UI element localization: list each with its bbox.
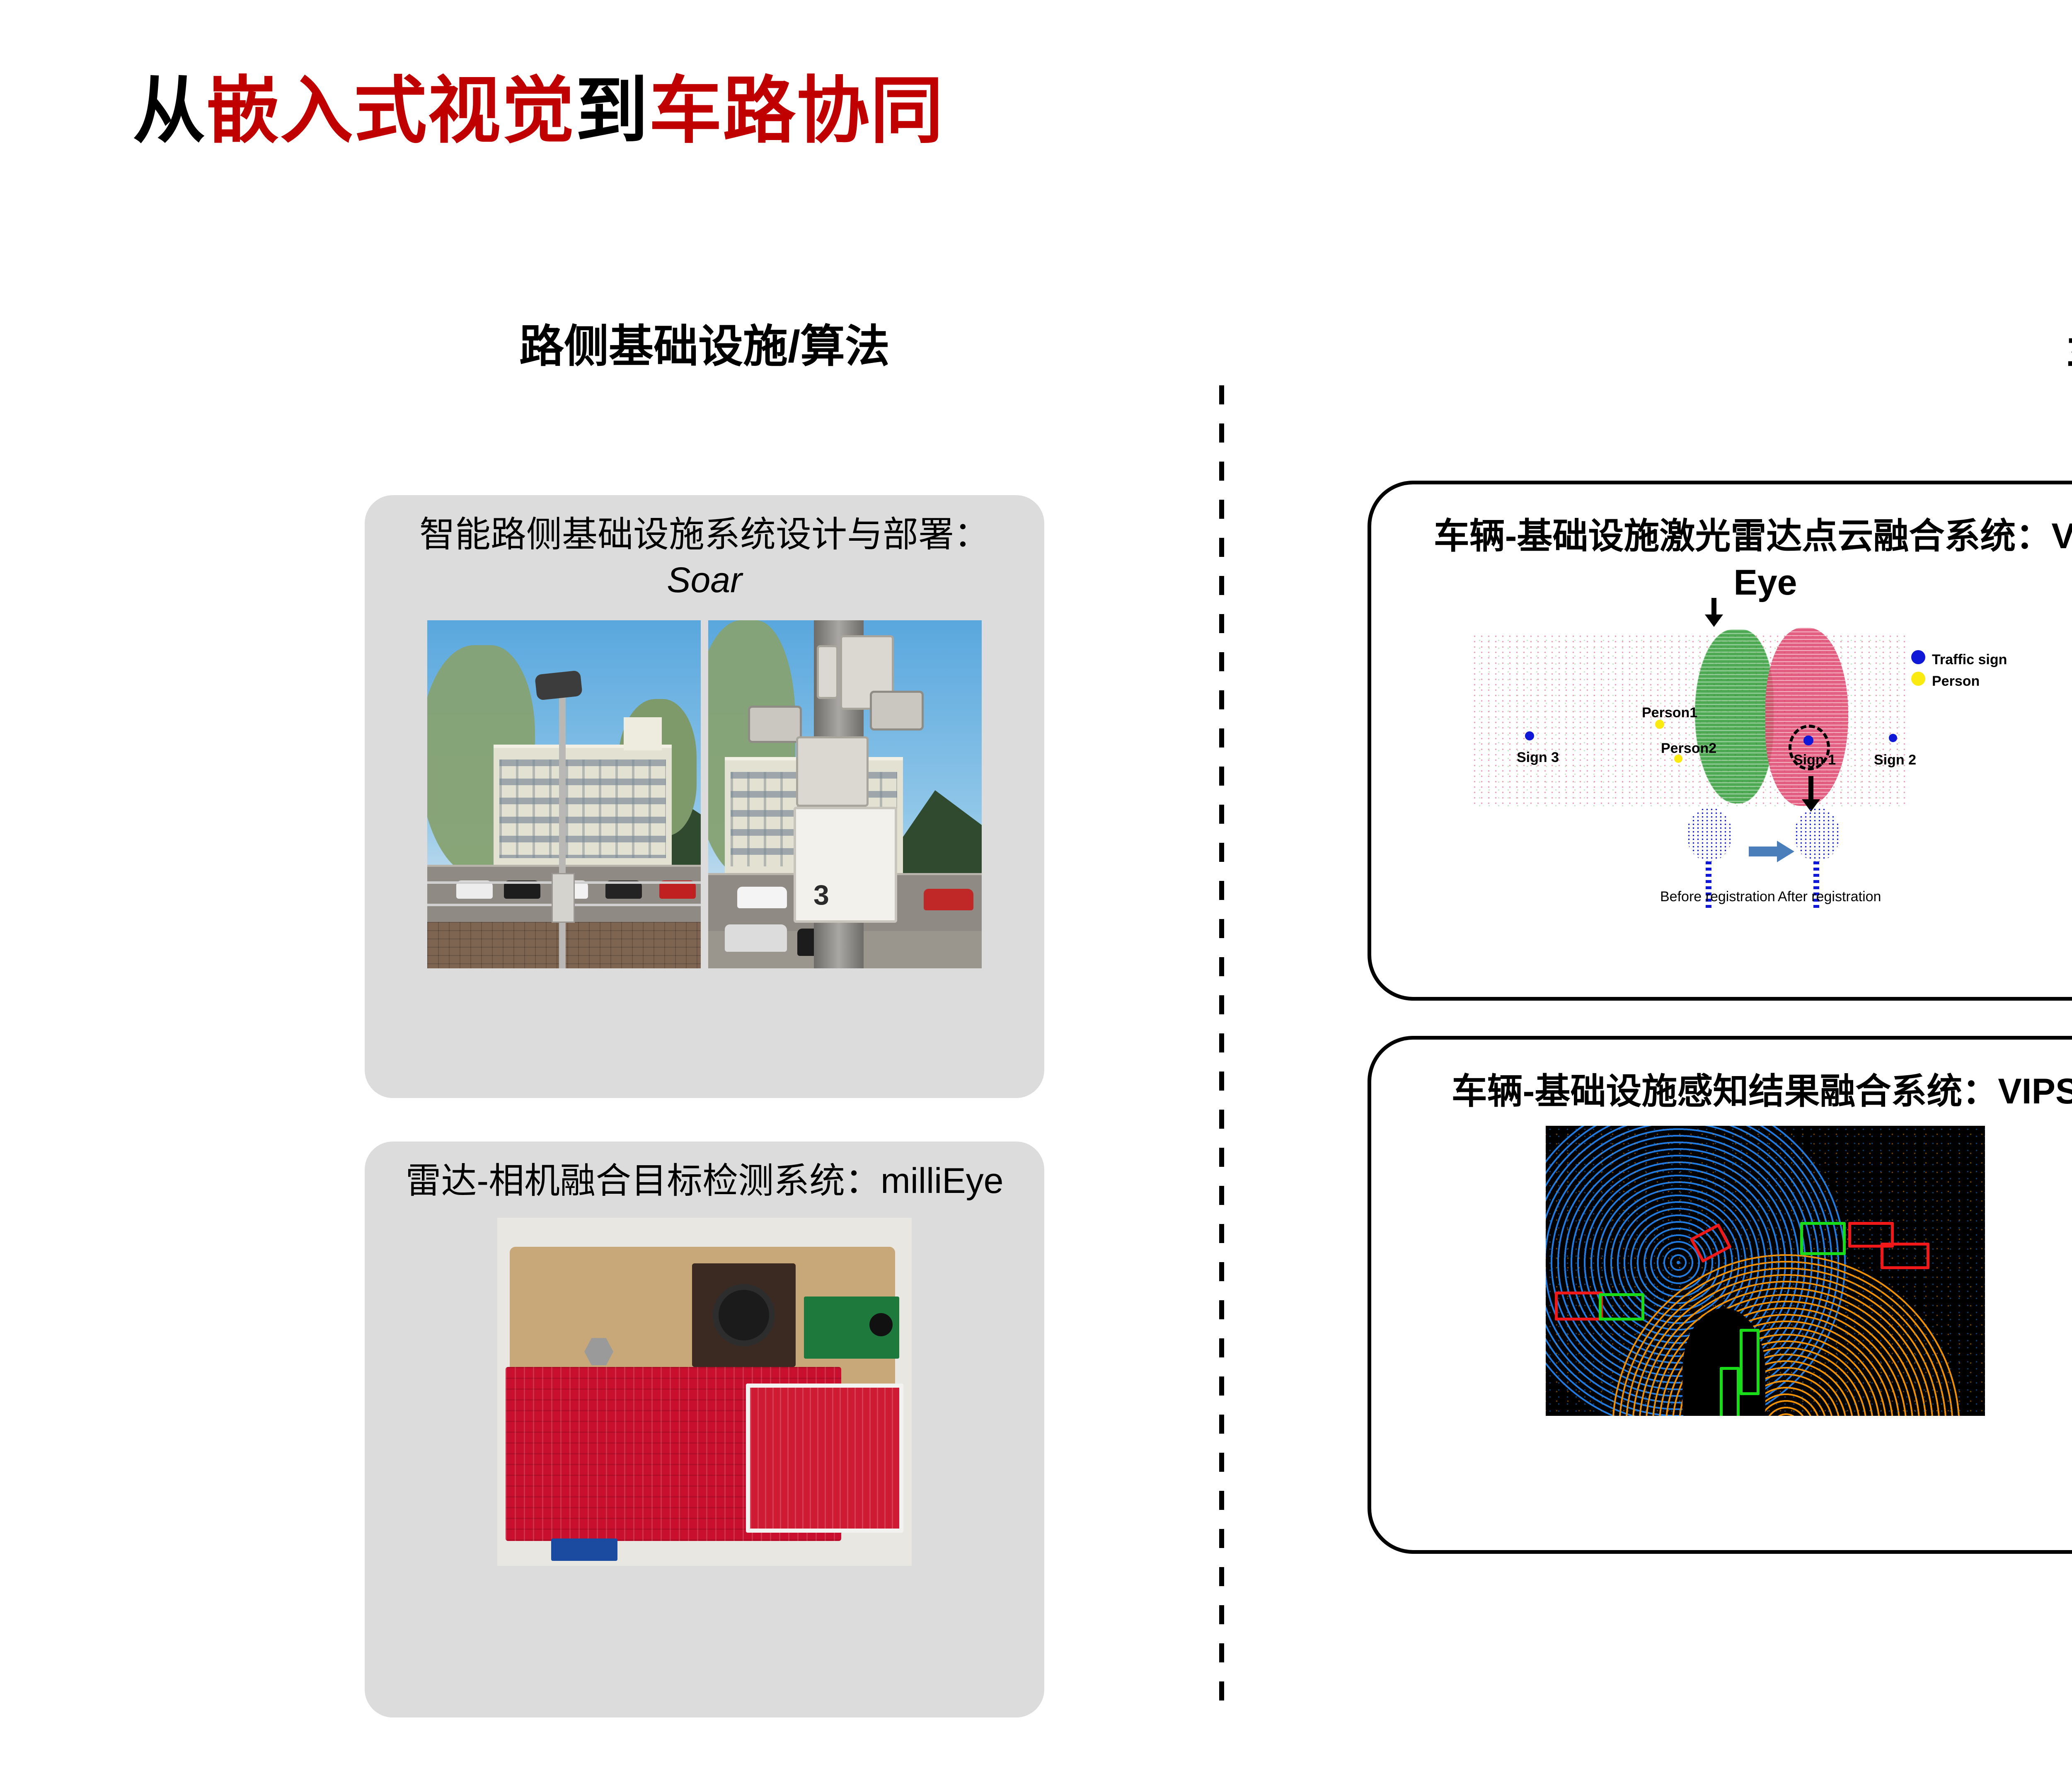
infrastructure-point-cloud xyxy=(1765,628,1848,806)
arrow-down-detail-icon xyxy=(1808,776,1813,801)
photo-pole-closeup: 3 xyxy=(708,620,982,968)
card-soar-title-text: 智能路侧基础设施系统设计与部署： xyxy=(419,515,990,554)
camera-lens xyxy=(713,1284,775,1346)
detection-box-green xyxy=(1740,1329,1760,1395)
legend-traffic-sign-dot xyxy=(1911,650,1925,664)
street-light-pole xyxy=(559,682,566,968)
camera-left xyxy=(748,706,802,743)
cabinet-number: 3 xyxy=(813,879,829,911)
arrow-head xyxy=(1777,841,1794,862)
card-vips[interactable]: 车辆-基础设施感知结果融合系统：VIPS xyxy=(1368,1036,2072,1554)
small-camera-lens xyxy=(869,1313,893,1336)
small-camera-board xyxy=(804,1297,899,1359)
card-vips-title: 车辆-基础设施感知结果融合系统：VIPS xyxy=(1418,1040,2072,1115)
page-title: 从嵌入式视觉到车路协同 xyxy=(133,70,944,152)
parked-car xyxy=(924,889,973,910)
junction-box xyxy=(796,736,869,807)
detection-box-red xyxy=(1555,1292,1603,1321)
right-column-header: 车路协同系统 xyxy=(1347,327,2072,382)
card-millieye[interactable]: 雷达-相机融合目标检测系统：milliEye xyxy=(365,1142,1044,1717)
column-divider xyxy=(1219,385,1224,1715)
registration-arrow-icon xyxy=(1749,841,1794,862)
card-soar-title: 智能路侧基础设施系统设计与部署：Soar xyxy=(365,495,1044,603)
terminal-block xyxy=(551,1538,617,1561)
annotation-sign2: Sign 2 xyxy=(1874,752,1916,768)
annotation-sign3: Sign 3 xyxy=(1517,750,1559,766)
title-part-3: 车路协同 xyxy=(649,70,944,152)
detection-box-green xyxy=(1720,1367,1740,1416)
campus-building xyxy=(494,745,672,865)
arrow-shaft xyxy=(1749,847,1778,856)
card-soar[interactable]: 智能路侧基础设施系统设计与部署：Soar xyxy=(365,495,1044,1098)
person2-marker xyxy=(1674,755,1682,763)
legend-person-label: Person xyxy=(1932,673,1980,689)
millieye-hardware-photo xyxy=(497,1218,912,1566)
building-tower xyxy=(624,717,662,750)
slide-canvas: 从嵌入式视觉到车路协同 xyxy=(0,0,2072,1790)
detection-box-green xyxy=(1599,1293,1644,1321)
left-column-header: 路侧基础设施/算法 xyxy=(332,319,1077,374)
caption-before-registration: Before registration xyxy=(1660,889,1775,905)
person1-marker xyxy=(1655,720,1664,729)
building-windows xyxy=(499,760,666,858)
annotation-person1: Person1 xyxy=(1642,705,1697,721)
caption-after-registration: After registration xyxy=(1778,889,1881,905)
vi-eye-pointcloud-registration: Traffic sign Person Person1 Person2 Sign… xyxy=(1446,609,2072,907)
card-vi-eye[interactable]: 车辆-基础设施激光雷达点云融合系统：VI-Eye Traffic sign Pe… xyxy=(1368,481,2072,1001)
pole-equipment-box xyxy=(552,873,575,923)
sign-points-head xyxy=(1687,808,1732,861)
camera-right xyxy=(870,691,924,731)
sign-points-head xyxy=(1794,808,1840,861)
controller-cabinet: 3 xyxy=(794,807,897,923)
legend-person-dot xyxy=(1911,672,1925,686)
antenna-panel xyxy=(817,645,838,699)
camera-module xyxy=(692,1263,796,1367)
annotation-person2: Person2 xyxy=(1661,740,1716,757)
scattered-points xyxy=(1546,1126,1985,1416)
radar-daughter-board xyxy=(746,1384,903,1533)
sign3-marker xyxy=(1525,731,1534,740)
parked-car xyxy=(725,924,787,952)
photo-pole-wide xyxy=(427,620,701,968)
roadside-infrastructure-photos: 3 xyxy=(427,620,982,968)
detection-box-red xyxy=(1881,1243,1929,1269)
title-part-0: 从 xyxy=(133,70,206,152)
card-millieye-title: 雷达-相机融合目标检测系统：milliEye xyxy=(377,1142,1033,1204)
detection-box-green xyxy=(1800,1222,1846,1255)
sign2-marker xyxy=(1889,734,1897,742)
card-soar-title-name: Soar xyxy=(667,560,742,600)
vehicle-point-cloud xyxy=(1695,629,1774,803)
title-part-2: 到 xyxy=(575,70,649,152)
card-vi-eye-title: 车辆-基础设施激光雷达点云融合系统：VI-Eye xyxy=(1371,484,2072,606)
street-lamp-head xyxy=(535,670,583,701)
legend-traffic-sign-label: Traffic sign xyxy=(1932,652,2007,668)
parked-car xyxy=(737,887,787,908)
sign1-highlight-ellipse xyxy=(1789,725,1830,770)
vips-fusion-pointcloud xyxy=(1546,1126,1985,1416)
arrow-down-top-icon xyxy=(1711,598,1716,616)
title-part-1: 嵌入式视觉 xyxy=(206,70,575,152)
